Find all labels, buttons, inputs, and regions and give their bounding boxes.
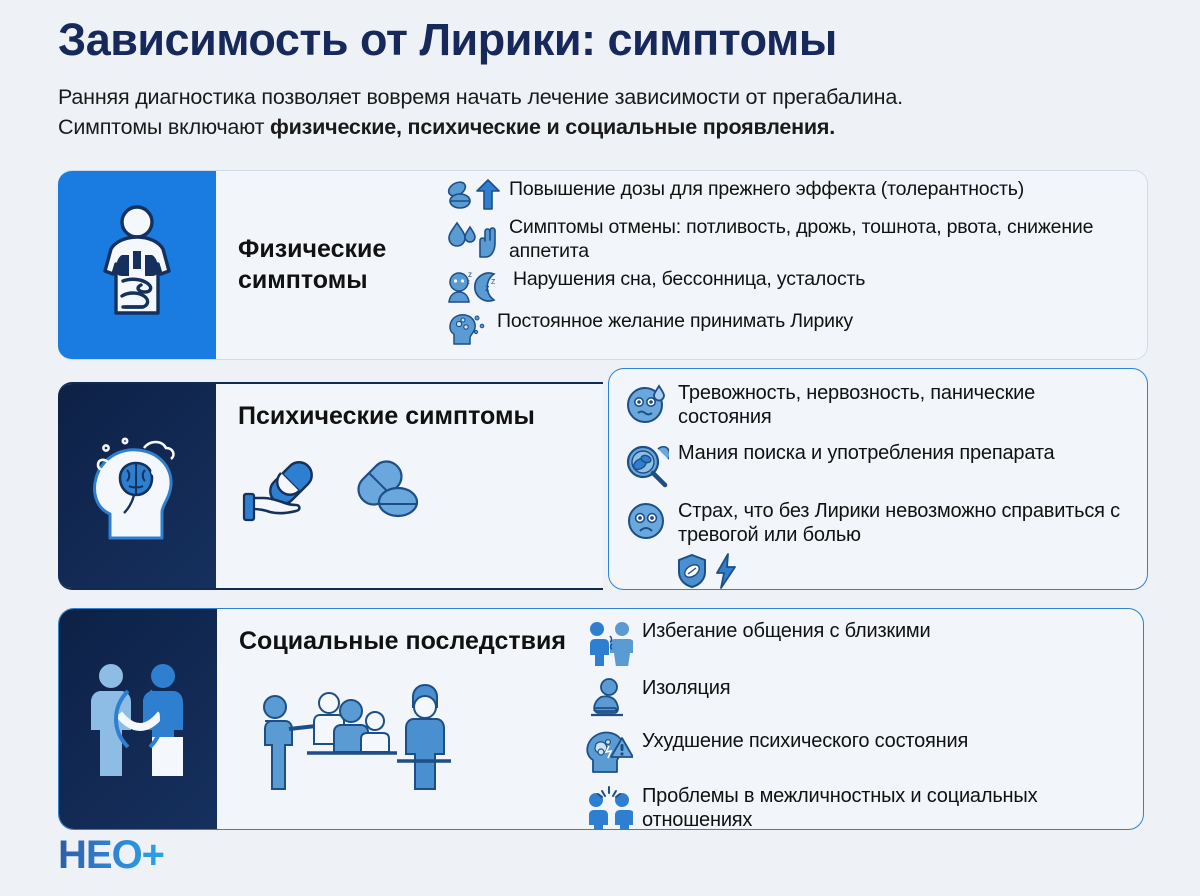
card-physical-symptoms: Физические симптомы Повышение — [58, 170, 1148, 360]
hand-capsule-icon — [238, 458, 330, 528]
mental-decline-icon — [585, 729, 633, 774]
card-social-icon-panel — [59, 609, 217, 829]
svg-text:z: z — [468, 270, 472, 279]
list-item: Повышение дозы для прежнего эффекта (тол… — [446, 178, 1135, 211]
card-physical-body: Физические симптомы Повышение — [216, 171, 1147, 359]
card-social-title: Социальные последствия — [239, 627, 566, 656]
card-physical-list: Повышение дозы для прежнего эффекта (тол… — [446, 178, 1147, 352]
list-item-text: Избегание общения с близкими — [642, 619, 930, 643]
svg-text:z: z — [467, 280, 470, 286]
pills-group-icon — [356, 460, 426, 526]
list-item: Изоляция — [585, 676, 1085, 719]
page-header: Зависимость от Лирики: симптомы Ранняя д… — [0, 0, 1200, 143]
head-brain-icon — [82, 426, 192, 546]
card-physical-icon-panel — [58, 171, 216, 359]
list-item-text: Страх, что без Лирики невозможно справит… — [678, 499, 1133, 548]
avoid-family-icon — [585, 619, 633, 666]
list-item-text: Постоянное желание принимать Лирику — [497, 310, 853, 333]
list-item: Ухудшение психического состояния — [585, 729, 1085, 774]
list-item: z z z Z Нарушения сна, бессонница, устал… — [446, 268, 1135, 305]
card-mental-list-panel: Тревожность, нервозность, панические сос… — [608, 368, 1148, 590]
card-mental-extra-icons — [625, 553, 1133, 589]
list-item-text: Повышение дозы для прежнего эффекта (тол… — [509, 178, 1024, 201]
sleep-moon-icon: z z z Z — [446, 268, 504, 305]
isolation-icon — [585, 676, 633, 719]
card-social-body: Социальные последствия — [217, 609, 1143, 829]
list-item-text: Нарушения сна, бессонница, усталость — [513, 268, 865, 291]
card-social-list: Избегание общения с близкими — [585, 619, 1085, 830]
card-physical-title: Физические симптомы — [216, 234, 446, 297]
list-item-text: Изоляция — [642, 676, 730, 700]
head-craving-icon — [446, 310, 488, 347]
card-mental-symptoms: Психические симптомы — [58, 382, 603, 590]
card-mental-list: Тревожность, нервозность, панические сос… — [625, 381, 1133, 589]
subtitle-line-2-prefix: Симптомы включают — [58, 115, 270, 139]
pills-up-arrow-icon — [446, 178, 500, 211]
list-item-text: Мания поиска и употребления препарата — [678, 441, 1054, 465]
list-item-text: Тревожность, нервозность, панические сос… — [678, 381, 1133, 430]
list-item: Симптомы отмены: потливость, дрожь, тошн… — [446, 216, 1135, 263]
shield-pill-icon — [677, 553, 707, 589]
card-mental-body: Психические симптомы — [216, 384, 603, 588]
lightning-bolt-icon — [715, 553, 737, 589]
card-social-consequences: Социальные последствия — [58, 608, 1144, 830]
list-item-text: Проблемы в межличностных и социальных от… — [642, 784, 1085, 830]
sweat-drops-hand-icon — [446, 216, 500, 261]
list-item-text: Ухудшение психического состояния — [642, 729, 968, 753]
subtitle-line-2-bold: физические, психические и социальные про… — [270, 115, 835, 139]
list-item: Избегание общения с близкими — [585, 619, 1085, 666]
body-organs-icon — [89, 201, 185, 329]
list-item: Проблемы в межличностных и социальных от… — [585, 784, 1085, 830]
conflict-people-icon — [585, 784, 633, 830]
list-item: Мания поиска и употребления препарата — [625, 441, 1133, 488]
brand-logo: НЕО+ — [58, 833, 164, 878]
page-title: Зависимость от Лирики: симптомы — [58, 14, 1142, 66]
list-item: Страх, что без Лирики невозможно справит… — [625, 499, 1133, 548]
svg-text:Z: Z — [491, 279, 496, 286]
group-avoidance-icon — [247, 679, 487, 799]
svg-text:z: z — [485, 283, 490, 293]
anxious-face-icon — [625, 381, 669, 426]
list-item-text: Симптомы отмены: потливость, дрожь, тошн… — [509, 216, 1135, 263]
card-mental-body-icons — [238, 458, 426, 528]
page-subtitle: Ранняя диагностика позволяет вовремя нач… — [58, 82, 1142, 143]
subtitle-line-2: Симптомы включают физические, психически… — [58, 112, 1142, 143]
list-item: Постоянное желание принимать Лирику — [446, 310, 1135, 347]
fearful-face-icon — [625, 499, 669, 542]
two-people-icon — [79, 659, 197, 779]
card-mental-title: Психические симптомы — [238, 402, 603, 431]
list-item: Тревожность, нервозность, панические сос… — [625, 381, 1133, 430]
magnifier-pills-icon — [625, 441, 669, 488]
card-mental-icon-panel — [58, 384, 216, 588]
subtitle-line-1: Ранняя диагностика позволяет вовремя нач… — [58, 82, 1142, 113]
